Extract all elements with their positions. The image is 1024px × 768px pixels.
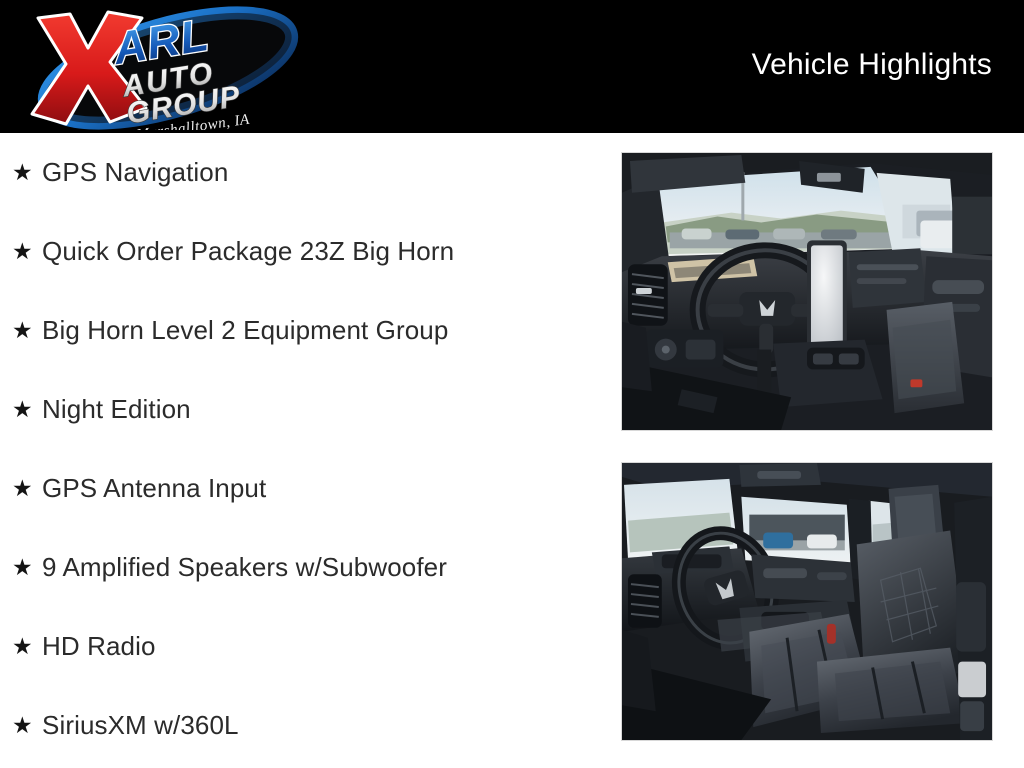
list-item: ★ Big Horn Level 2 Equipment Group [12, 313, 448, 347]
star-bullet-icon: ★ [12, 161, 42, 184]
list-item: ★ Night Edition [12, 392, 191, 426]
center-touchscreen [807, 240, 847, 355]
list-item-label: Night Edition [42, 394, 191, 425]
list-item: ★ HD Radio [12, 629, 156, 663]
list-item: ★ Quick Order Package 23Z Big Horn [12, 234, 454, 268]
star-bullet-icon: ★ [12, 398, 42, 421]
page-title: Vehicle Highlights [752, 48, 992, 82]
list-item: ★ GPS Navigation [12, 155, 228, 189]
list-item-label: Big Horn Level 2 Equipment Group [42, 315, 448, 346]
list-item-label: HD Radio [42, 631, 156, 662]
list-item: ★ GPS Antenna Input [12, 471, 266, 505]
karl-auto-group-logo[interactable]: ARL AUTO GROUP Marshalltown, IA [18, 4, 308, 130]
list-item: ★ SiriusXM w/360L [12, 708, 239, 742]
list-item-label: GPS Antenna Input [42, 473, 266, 504]
list-item: ★ 9 Amplified Speakers w/Subwoofer [12, 550, 447, 584]
list-item-label: Quick Order Package 23Z Big Horn [42, 236, 454, 267]
list-item-label: SiriusXM w/360L [42, 710, 239, 741]
star-bullet-icon: ★ [12, 477, 42, 500]
star-bullet-icon: ★ [12, 714, 42, 737]
star-bullet-icon: ★ [12, 556, 42, 579]
page-header: ARL AUTO GROUP Marshalltown, IA Vehicle … [0, 0, 1024, 133]
list-item-label: 9 Amplified Speakers w/Subwoofer [42, 552, 447, 583]
vehicle-photo-front-seats[interactable] [621, 462, 993, 741]
list-item-label: GPS Navigation [42, 157, 228, 188]
vehicle-photo-dashboard[interactable] [621, 152, 993, 431]
star-bullet-icon: ★ [12, 319, 42, 342]
vehicle-highlights-list: ★ GPS Navigation ★ Quick Order Package 2… [0, 133, 600, 768]
star-bullet-icon: ★ [12, 635, 42, 658]
star-bullet-icon: ★ [12, 240, 42, 263]
